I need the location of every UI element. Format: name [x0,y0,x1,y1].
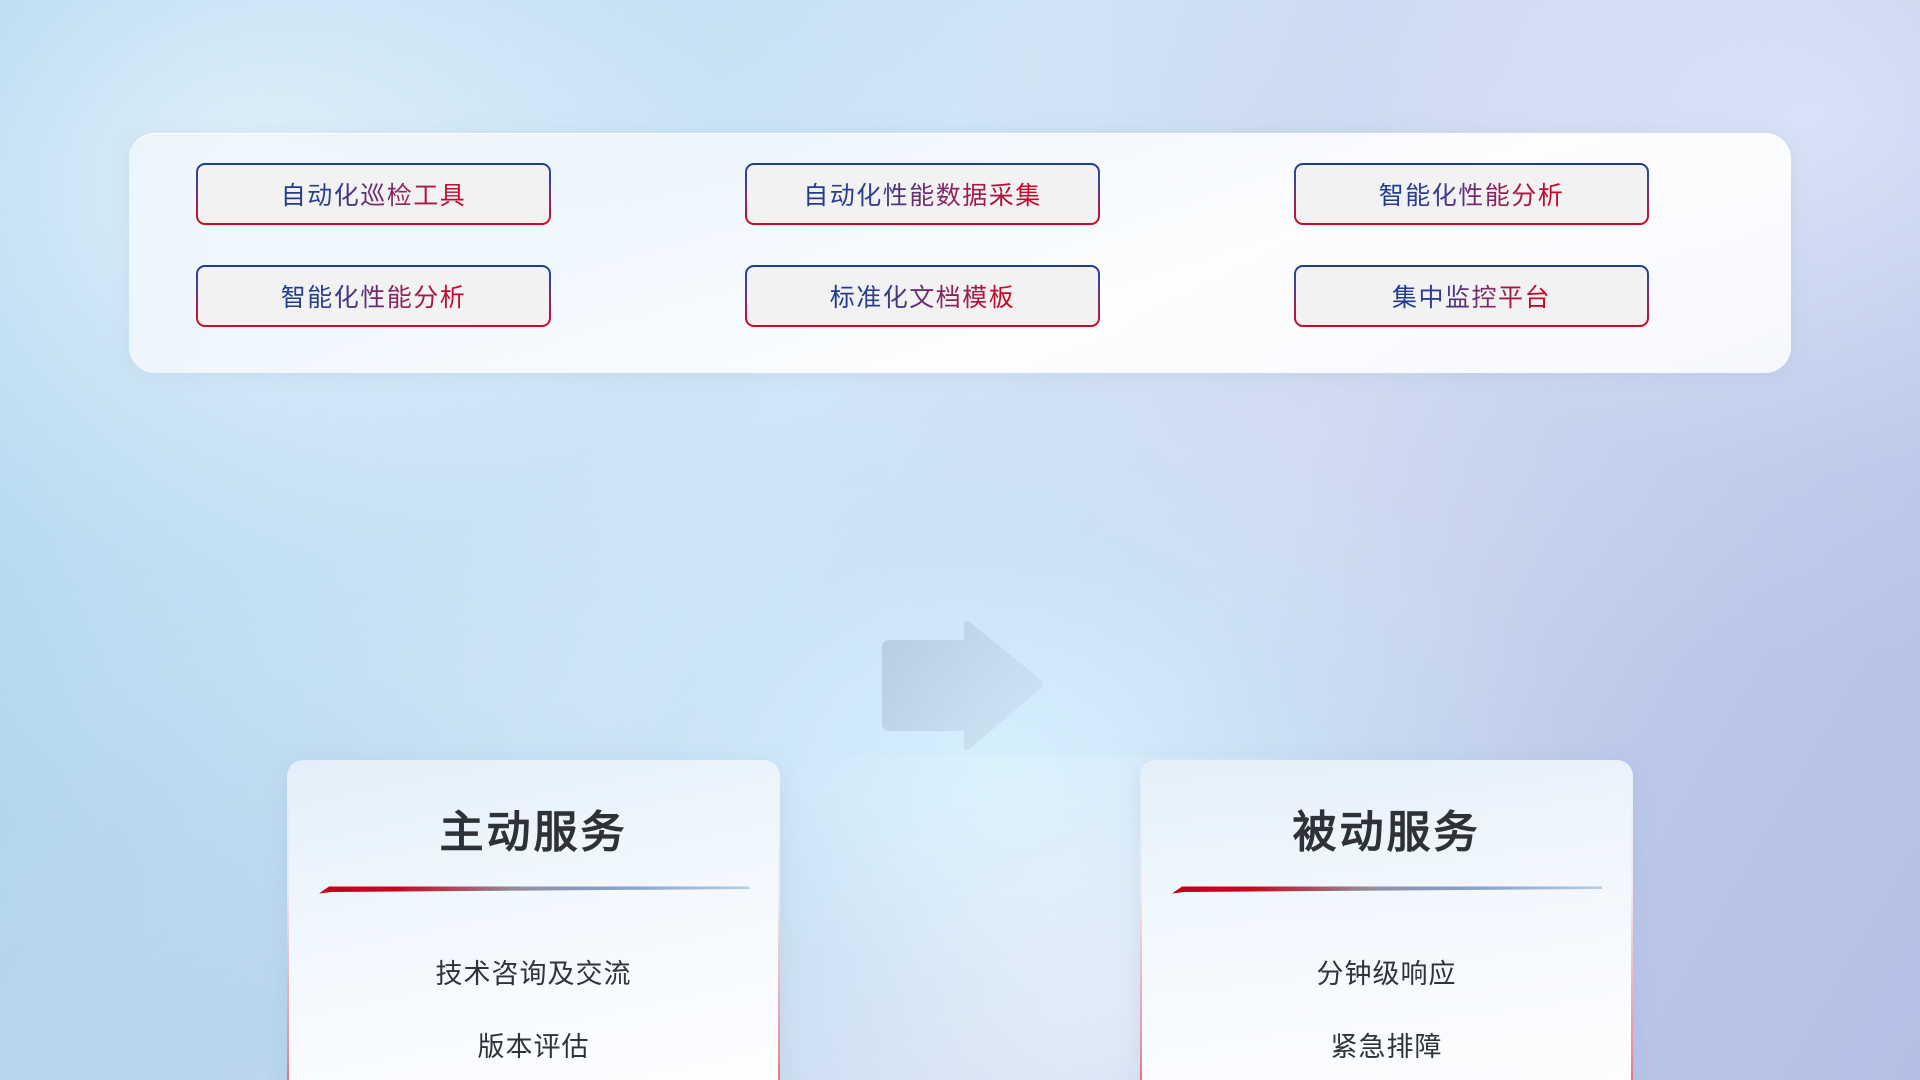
card-list-item: 分钟级响应 [1317,938,1457,1011]
card-title: 主动服务 [287,796,780,860]
capability-pill-label: 自动化巡检工具 [281,176,467,212]
card-list-item: 技术咨询及交流 [436,938,632,1011]
capability-pill[interactable]: 智能化性能分析 [196,265,551,327]
capability-pill-grid: 自动化巡检工具 自动化性能数据采集 智能化性能分析 智能化性能分析 标准化文档模… [189,163,1731,327]
capability-pill[interactable]: 标准化文档模板 [745,265,1100,327]
card-title: 被动服务 [1140,796,1633,860]
capability-pill-body: 智能化性能分析 [1296,165,1647,223]
capability-pill-body: 智能化性能分析 [198,267,549,325]
card-right-accent [778,760,780,1080]
capability-pill[interactable]: 集中监控平台 [1294,265,1649,327]
card-list-item: 版本评估 [478,1011,590,1080]
capability-pill-label: 标准化文档模板 [830,278,1016,314]
capability-pill-body: 自动化性能数据采集 [747,165,1098,223]
capability-pill-body: 集中监控平台 [1296,267,1647,325]
capability-pill-body: 自动化巡检工具 [198,165,549,223]
capability-pill-label: 集中监控平台 [1392,278,1551,314]
capability-pill[interactable]: 智能化性能分析 [1294,163,1649,225]
card-item-list: 技术咨询及交流 版本评估 性能检查 自动化监控与告警 健康巡检 [287,938,780,1080]
flow-connector [876,618,1046,756]
arrow-right-icon [876,618,1046,756]
card-left-accent [287,760,289,1080]
card-divider [319,884,749,896]
card-list-item: 紧急排障 [1331,1011,1443,1080]
capability-pill[interactable]: 自动化性能数据采集 [745,163,1100,225]
service-card-reactive: 被动服务 分钟级响应 紧急排障 值守保障 问题诊断解决 SLA式服务 [1140,760,1633,1080]
capability-panel: 自动化巡检工具 自动化性能数据采集 智能化性能分析 智能化性能分析 标准化文档模… [129,133,1791,373]
capability-pill[interactable]: 自动化巡检工具 [196,163,551,225]
service-card-proactive: 主动服务 技术咨询及交流 版本评估 性能检查 自动化监控与告警 健康巡检 [287,760,780,1080]
capability-pill-label: 智能化性能分析 [281,278,467,314]
card-right-accent [1631,760,1633,1080]
card-left-accent [1140,760,1142,1080]
capability-pill-label: 自动化性能数据采集 [803,176,1042,212]
capability-pill-label: 智能化性能分析 [1379,176,1565,212]
card-item-list: 分钟级响应 紧急排障 值守保障 问题诊断解决 SLA式服务 [1140,938,1633,1080]
card-divider [1172,884,1602,896]
capability-pill-body: 标准化文档模板 [747,267,1098,325]
